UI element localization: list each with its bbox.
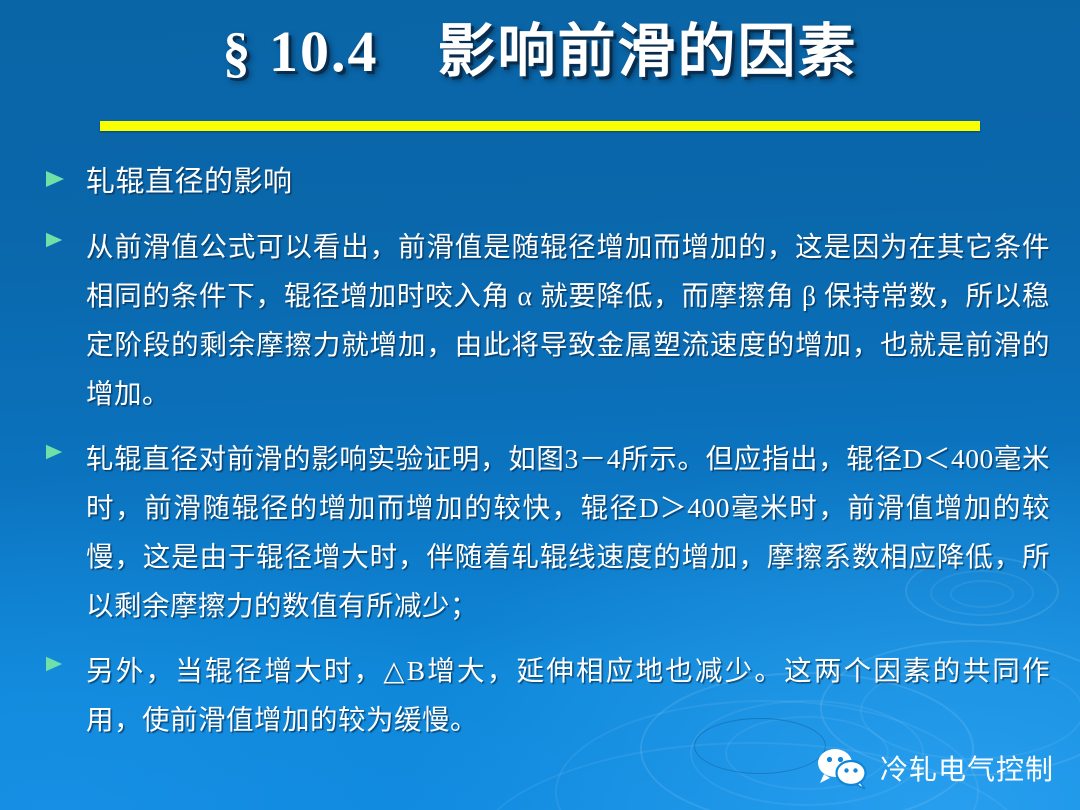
slide-body-content: 轧辊直径的影响 从前滑值公式可以看出，前滑值是随辊径增加而增加的，这是因为在其它…	[44, 160, 1050, 746]
watermark-label: 冷轧电气控制	[880, 748, 1054, 788]
watermark: 冷轧电气控制	[814, 746, 1054, 790]
chevron-arrow-icon	[44, 222, 86, 249]
title-heading-text: 影响前滑的因素	[437, 19, 857, 84]
chevron-arrow-icon	[44, 434, 86, 461]
title-section-symbol: §	[222, 22, 252, 84]
wechat-logo-icon	[814, 746, 870, 790]
bullet-text-additional-factors: 另外，当辊径增大时，△B增大，延伸相应地也减少。这两个因素的共同作用，使前滑值增…	[86, 646, 1050, 744]
chevron-arrow-icon	[44, 160, 86, 189]
bullet-item-forward-slip-formula: 从前滑值公式可以看出，前滑值是随辊径增加而增加的，这是因为在其它条件相同的条件下…	[44, 222, 1050, 418]
bullet-item-roll-diameter-heading: 轧辊直径的影响	[44, 160, 1050, 204]
bullet-item-experiment-proof: 轧辊直径对前滑的影响实验证明，如图3－4所示。但应指出，辊径D＜400毫米时，前…	[44, 434, 1050, 630]
chevron-arrow-icon	[44, 646, 86, 673]
bullet-item-additional-factors: 另外，当辊径增大时，△B增大，延伸相应地也减少。这两个因素的共同作用，使前滑值增…	[44, 646, 1050, 744]
bullet-text-experiment-proof: 轧辊直径对前滑的影响实验证明，如图3－4所示。但应指出，辊径D＜400毫米时，前…	[86, 434, 1050, 630]
bullet-text-forward-slip-formula: 从前滑值公式可以看出，前滑值是随辊径增加而增加的，这是因为在其它条件相同的条件下…	[86, 222, 1050, 418]
bullet-text-roll-diameter-heading: 轧辊直径的影响	[86, 160, 1050, 204]
slide-title-container: § 10.4 影响前滑的因素	[0, 20, 1080, 85]
title-number: 10.4	[269, 19, 379, 84]
presentation-slide: § 10.4 影响前滑的因素 轧辊直径的影响 从前滑值公式可以看出，前滑值是随辊…	[0, 0, 1080, 810]
page-title: § 10.4 影响前滑的因素	[222, 20, 857, 85]
title-divider-rule	[100, 121, 980, 131]
